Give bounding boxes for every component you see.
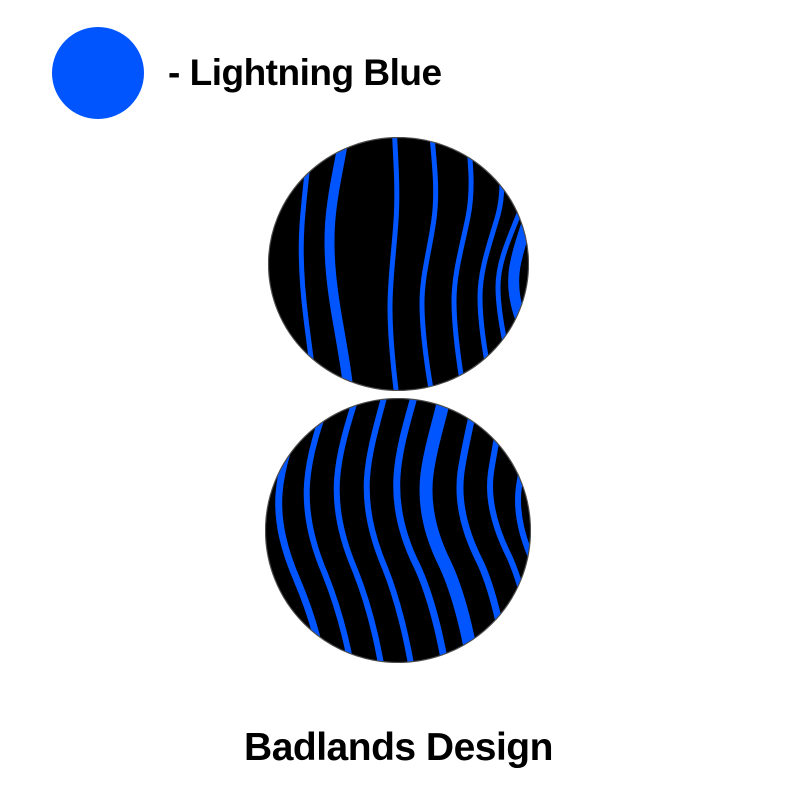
color-legend: - Lightning Blue — [52, 27, 532, 119]
color-name-label: - Lightning Blue — [168, 27, 442, 119]
brand-name: Badlands Design — [0, 726, 797, 770]
patch-bottom-disc — [266, 399, 531, 663]
design-canvas: - Lightning Blue — [0, 0, 797, 797]
pattern-patch-bottom — [265, 398, 531, 663]
patch-top-graphic — [268, 137, 529, 391]
patch-bottom-graphic — [265, 398, 531, 663]
pattern-patch-top — [268, 137, 529, 391]
color-swatch — [52, 27, 144, 119]
